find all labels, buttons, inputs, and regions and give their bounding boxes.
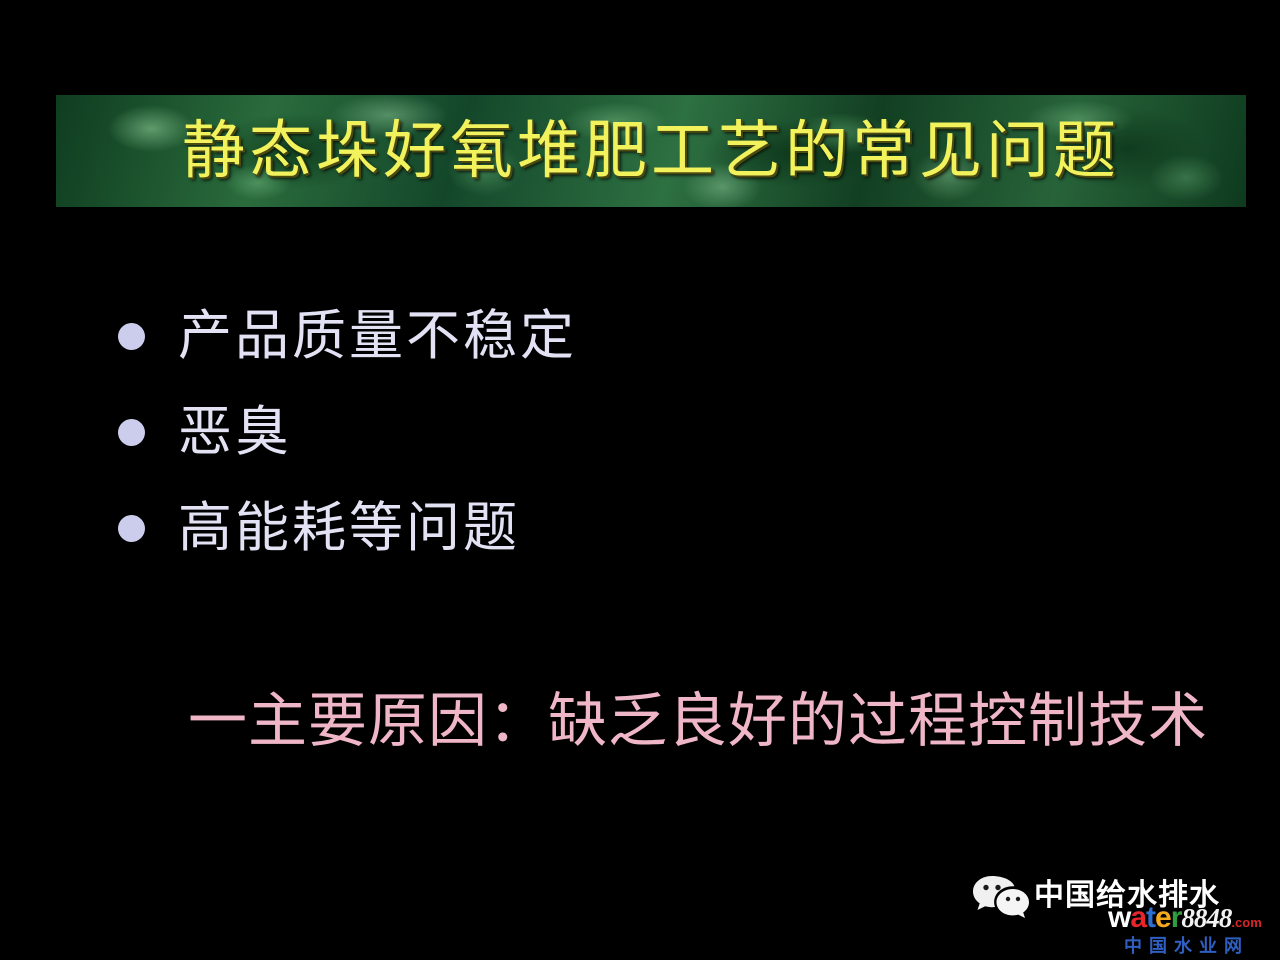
logo-letter-r: r xyxy=(1171,901,1182,934)
wechat-icon xyxy=(972,874,1030,920)
bullet-list: 产品质量不稳定 恶臭 高能耗等问题 xyxy=(118,288,1068,576)
filled-circle-icon xyxy=(118,515,145,542)
slide-title: 静态垛好氧堆肥工艺的常见问题 xyxy=(182,120,1120,183)
watermark-subtitle: 中国水业网 xyxy=(1124,932,1249,958)
filled-circle-icon xyxy=(118,419,145,446)
logo-letter-w: w xyxy=(1108,901,1130,934)
presentation-slide: 静态垛好氧堆肥工艺的常见问题 产品质量不稳定 恶臭 高能耗等问题 一主要原因：缺… xyxy=(0,0,1280,960)
bullet-item-label: 恶臭 xyxy=(178,405,292,459)
watermark-logo: water8848.com xyxy=(1108,901,1262,935)
logo-letter-a: a xyxy=(1130,901,1146,934)
bullet-item-label: 产品质量不稳定 xyxy=(178,309,577,363)
bullet-item-label: 高能耗等问题 xyxy=(178,501,520,555)
logo-tld: .com xyxy=(1231,915,1261,930)
logo-letter-e: e xyxy=(1155,901,1171,934)
list-item: 恶臭 xyxy=(118,384,1068,480)
list-item: 高能耗等问题 xyxy=(118,480,1068,576)
list-item: 产品质量不稳定 xyxy=(118,288,1068,384)
filled-circle-icon xyxy=(118,323,145,350)
conclusion-text: 一主要原因：缺乏良好的过程控制技术 xyxy=(188,692,1208,751)
watermark: 中国给水排水 water8848.com 中国水业网 xyxy=(972,870,1272,956)
logo-letter-t: t xyxy=(1146,901,1155,934)
title-banner: 静态垛好氧堆肥工艺的常见问题 xyxy=(56,95,1246,207)
logo-number: 8848 xyxy=(1181,903,1231,933)
